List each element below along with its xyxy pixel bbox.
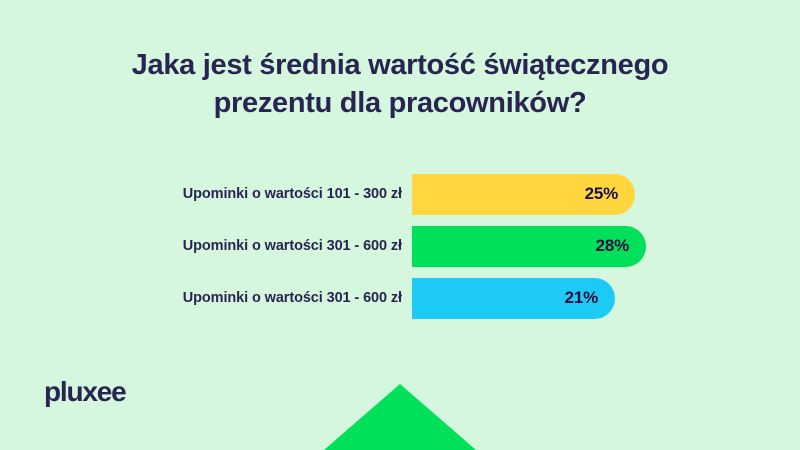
bar-label: Upominki o wartości 301 - 600 zł — [0, 290, 412, 306]
bar-label: Upominki o wartości 101 - 300 zł — [0, 186, 412, 202]
bar-row: Upominki o wartości 301 - 600 zł 21% — [0, 272, 800, 324]
bar-value: 25% — [585, 184, 635, 204]
bar-fill: 21% — [412, 278, 615, 319]
bar-track: 28% — [412, 226, 800, 267]
page-title: Jaka jest średnia wartość świątecznego p… — [0, 46, 800, 122]
bar-track: 21% — [412, 278, 800, 319]
bar-value: 21% — [565, 288, 615, 308]
bar-value: 28% — [596, 236, 646, 256]
bar-track: 25% — [412, 174, 800, 215]
bar-chart: Upominki o wartości 101 - 300 zł 25% Upo… — [0, 168, 800, 324]
infographic-canvas: Jaka jest średnia wartość świątecznego p… — [0, 0, 800, 450]
page-title-line-1: Jaka jest średnia wartość świątecznego — [70, 46, 730, 84]
page-title-line-2: prezentu dla pracowników? — [70, 84, 730, 122]
triangle-decoration-icon — [324, 384, 476, 450]
bar-label: Upominki o wartości 301 - 600 zł — [0, 238, 412, 254]
bar-fill: 25% — [412, 174, 635, 215]
bar-fill: 28% — [412, 226, 646, 267]
brand-logo: pluxee — [44, 376, 126, 408]
bar-row: Upominki o wartości 301 - 600 zł 28% — [0, 220, 800, 272]
bar-row: Upominki o wartości 101 - 300 zł 25% — [0, 168, 800, 220]
